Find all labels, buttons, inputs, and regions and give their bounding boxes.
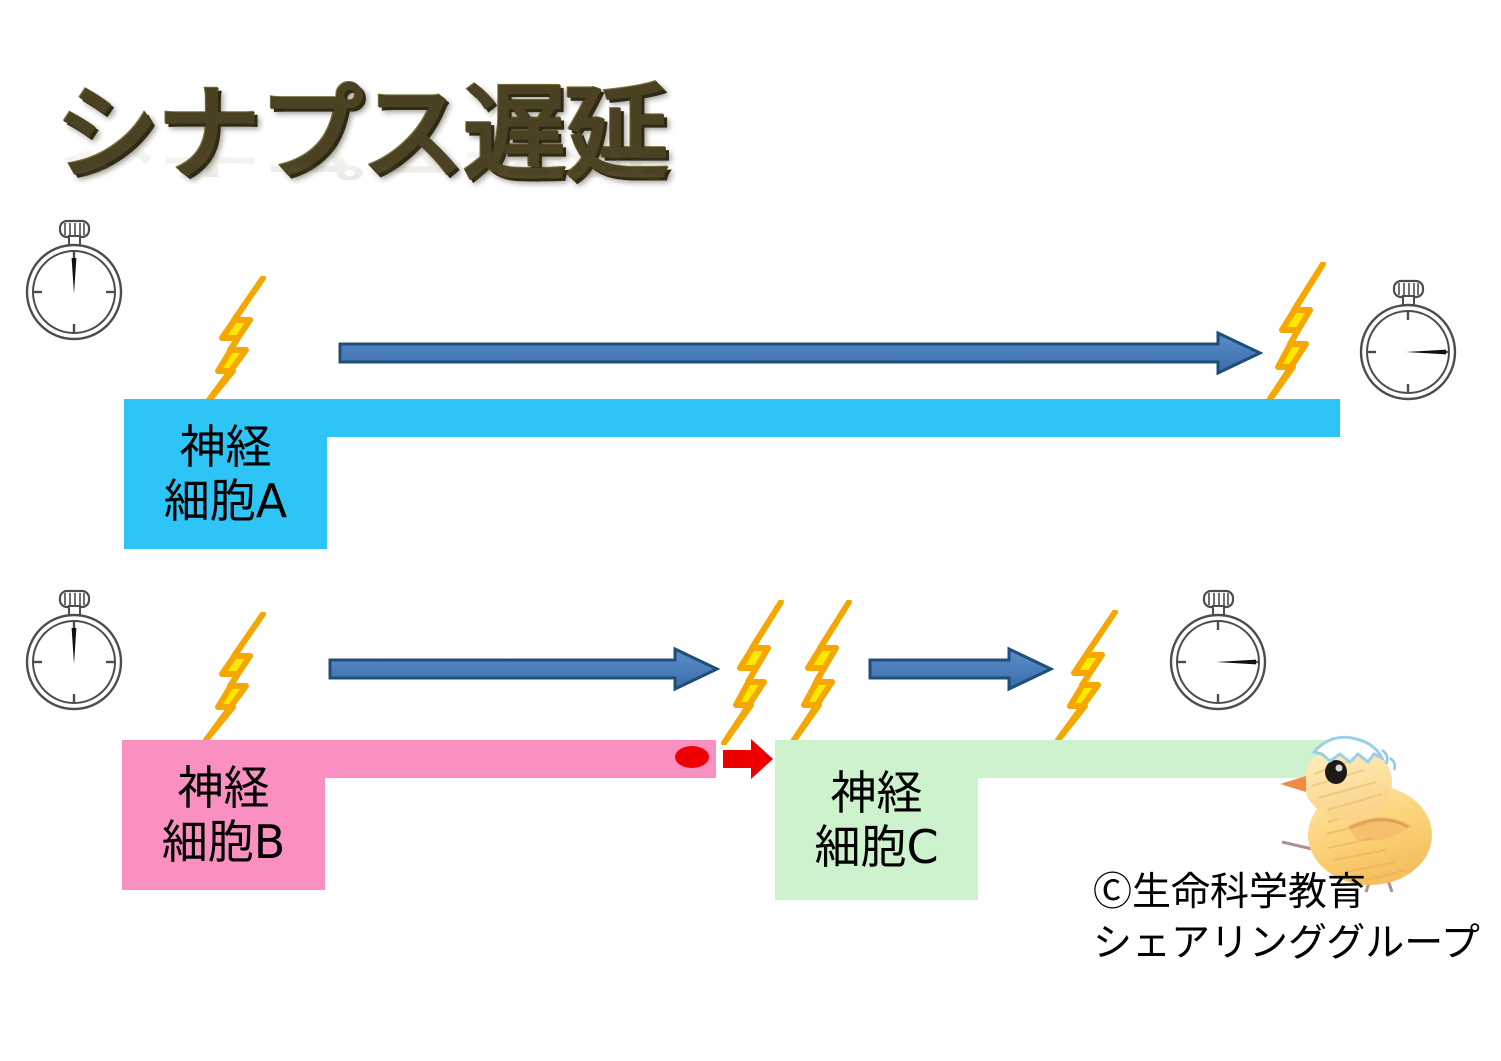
action-potential-a-start-icon: [200, 276, 276, 411]
slide-canvas: シナプス遅延 シナプス遅延: [0, 0, 1501, 1061]
stopwatch-a-start: [14, 218, 134, 348]
stopwatch-b-start: [14, 588, 134, 718]
page-title-text: シナプス遅延: [55, 78, 695, 190]
action-potential-c-end-icon: [1052, 610, 1128, 747]
neuron-b-label-line1: 神経: [178, 761, 270, 815]
stopwatch-a-end: [1348, 278, 1468, 408]
action-potential-c-start-icon: [786, 600, 862, 750]
axon-conduction-c-arrow: [868, 646, 1054, 697]
axon-conduction-a-arrow: [338, 330, 1263, 381]
axon-conduction-b-arrow: [328, 646, 720, 697]
action-potential-b-start-icon: [200, 612, 276, 747]
synaptic-transmission-arrow: [721, 736, 775, 787]
neuron-c-label-line2: 細胞C: [814, 820, 938, 874]
credit-line-2: シェアリンググループ: [1093, 919, 1480, 970]
neuron-b-label-line2: 細胞B: [162, 815, 286, 869]
neuron-a-soma: 神経 細胞A: [124, 399, 327, 549]
copyright-credit: Ⓒ生命科学教育 シェアリンググループ: [1093, 868, 1480, 969]
neuron-c-label-line1: 神経: [831, 766, 923, 820]
action-potential-b-terminal-icon: [718, 600, 794, 750]
page-title: シナプス遅延 シナプス遅延: [55, 78, 695, 238]
stopwatch-c-end: [1158, 588, 1278, 718]
neurotransmitter-vesicle-icon: [674, 744, 710, 775]
neuron-b-soma: 神経 細胞B: [122, 740, 325, 890]
action-potential-a-end-icon: [1260, 262, 1336, 412]
neuron-a-label-line1: 神経: [180, 420, 272, 474]
neuron-a-label-line2: 細胞A: [164, 474, 287, 528]
neuron-c-soma: 神経 細胞C: [775, 740, 978, 900]
credit-line-1: Ⓒ生命科学教育: [1093, 868, 1480, 919]
